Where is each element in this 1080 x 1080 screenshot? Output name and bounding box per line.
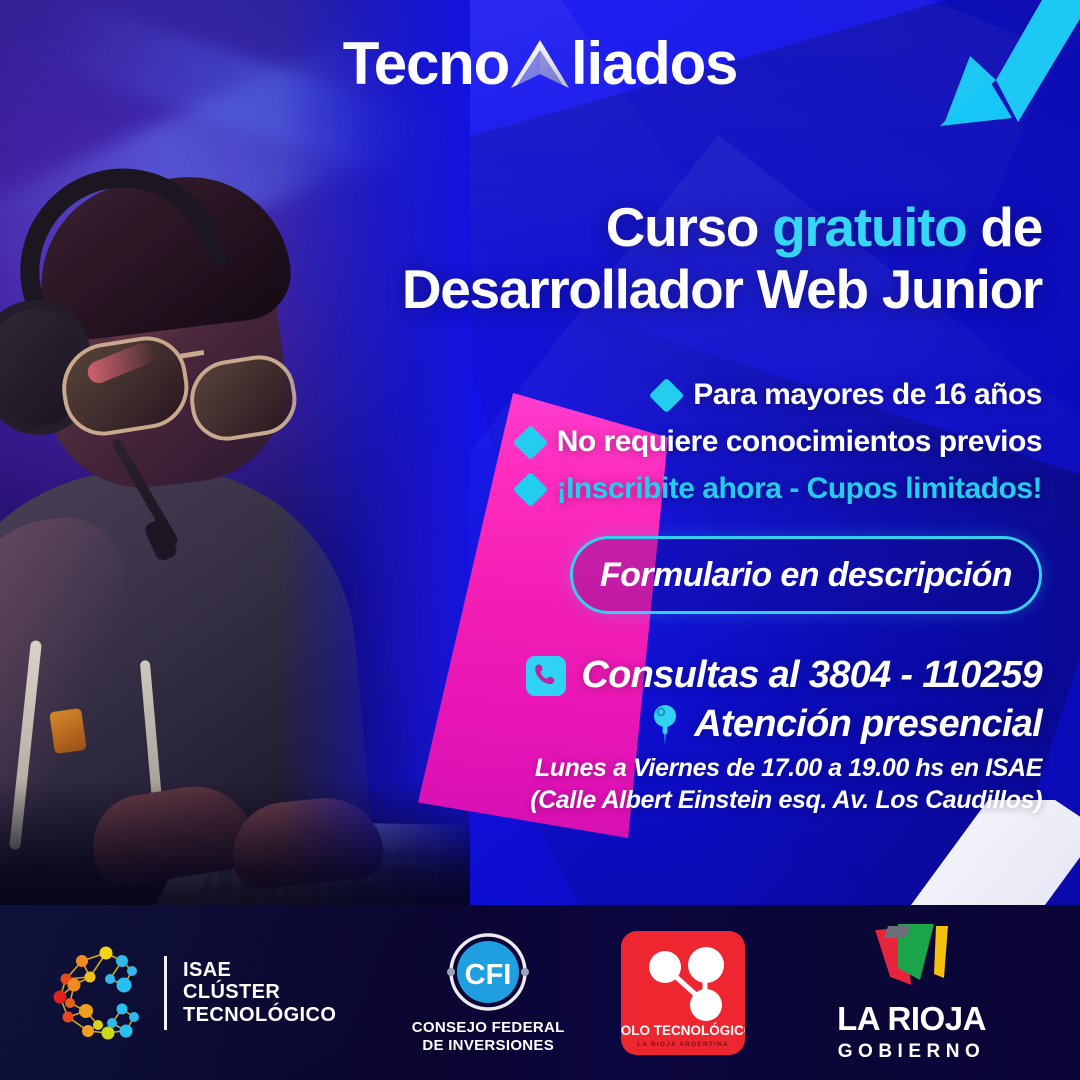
- map-pin-icon: [651, 704, 679, 746]
- promo-poster: Tecno liados Curso gratuito de Desarroll…: [0, 0, 1080, 1080]
- headline-accent: gratuito: [772, 196, 966, 258]
- headline-part-1: Curso: [606, 196, 772, 258]
- isae-logo-text: ISAE CLÚSTER TECNOLÓGICO: [183, 959, 336, 1026]
- headline-part-2: de: [966, 196, 1042, 258]
- cta-button-label: Formulario en descripción: [600, 556, 1012, 595]
- diamond-bullet-icon: [513, 425, 548, 460]
- logo-isae-cluster-tecnologico: ISAE CLÚSTER TECNOLÓGICO: [44, 941, 383, 1045]
- isae-line-2: CLÚSTER: [183, 981, 336, 1003]
- chevron-a-mark-icon: [509, 34, 571, 94]
- rioja-line-1: LA RIOJA: [837, 1002, 986, 1035]
- contact-block: Consultas al 3804 - 110259 Atención pres…: [342, 654, 1042, 816]
- footer-logo-bar: ISAE CLÚSTER TECNOLÓGICO CFI CONSEJO FED…: [0, 905, 1080, 1080]
- cfi-monogram: CFI: [465, 959, 512, 991]
- isae-line-1: ISAE: [183, 959, 336, 981]
- phone-icon: [526, 656, 566, 696]
- list-item: Para mayores de 16 años: [342, 378, 1042, 412]
- partner-logos: ISAE CLÚSTER TECNOLÓGICO CFI CONSEJO FED…: [0, 905, 1080, 1080]
- cta-button[interactable]: Formulario en descripción: [570, 536, 1042, 614]
- polo-tecnologico-icon: POLO TECNOLÓGICO LA RIOJA ARGENTINA: [621, 931, 745, 1055]
- cfi-line-1: CONSEJO FEDERAL: [412, 1019, 565, 1036]
- brand-logo-word-2: liados: [571, 34, 737, 94]
- page-title: Curso gratuito de Desarrollador Web Juni…: [342, 196, 1042, 320]
- contact-location-row: Atención presencial: [342, 703, 1042, 746]
- logo-la-rioja-gobierno: LA RIOJA GOBIERNO: [787, 924, 1036, 1061]
- contact-address: (Calle Albert Einstein esq. Av. Los Caud…: [342, 784, 1042, 816]
- list-item: No requiere conocimientos previos: [342, 425, 1042, 459]
- rioja-line-2: GOBIERNO: [838, 1042, 985, 1061]
- cfi-circle-icon: CFI: [447, 931, 529, 1013]
- hoodie-badge: [49, 708, 87, 754]
- brand-logo-word-1: Tecno: [343, 34, 509, 94]
- polo-line-2: LA RIOJA ARGENTINA: [638, 1041, 730, 1048]
- contact-phone-label: Consultas al 3804 - 110259: [581, 654, 1042, 697]
- feature-list: Para mayores de 16 años No requiere cono…: [342, 378, 1042, 506]
- diamond-bullet-icon: [649, 378, 684, 413]
- cfi-line-2: DE INVERSIONES: [412, 1037, 565, 1054]
- list-item: ¡Inscribite ahora - Cupos limitados!: [342, 472, 1042, 506]
- brand-logo: Tecno liados: [0, 34, 1080, 94]
- contact-location-label: Atención presencial: [694, 703, 1042, 746]
- polo-line-1: POLO TECNOLÓGICO: [621, 1023, 745, 1038]
- contact-hours: Lunes a Viernes de 17.00 a 19.00 hs en I…: [342, 752, 1042, 784]
- logo-consejo-federal-de-inversiones: CFI CONSEJO FEDERAL DE INVERSIONES: [383, 931, 594, 1054]
- isae-line-3: TECNOLÓGICO: [183, 1004, 336, 1026]
- isae-network-c-icon: [44, 941, 148, 1045]
- la-rioja-emblem-icon: [858, 924, 966, 998]
- main-content: Curso gratuito de Desarrollador Web Juni…: [342, 196, 1042, 816]
- cfi-logo-text: CONSEJO FEDERAL DE INVERSIONES: [412, 1019, 565, 1054]
- logo-polo-tecnologico: POLO TECNOLÓGICO LA RIOJA ARGENTINA: [594, 931, 773, 1055]
- logo-divider: [164, 956, 167, 1030]
- diamond-bullet-icon: [512, 472, 547, 507]
- list-item-label: ¡Inscribite ahora - Cupos limitados!: [557, 472, 1042, 506]
- list-item-label: Para mayores de 16 años: [693, 378, 1042, 412]
- list-item-label: No requiere conocimientos previos: [557, 425, 1042, 459]
- headline-line-2: Desarrollador Web Junior: [342, 258, 1042, 320]
- contact-phone-row: Consultas al 3804 - 110259: [342, 654, 1042, 697]
